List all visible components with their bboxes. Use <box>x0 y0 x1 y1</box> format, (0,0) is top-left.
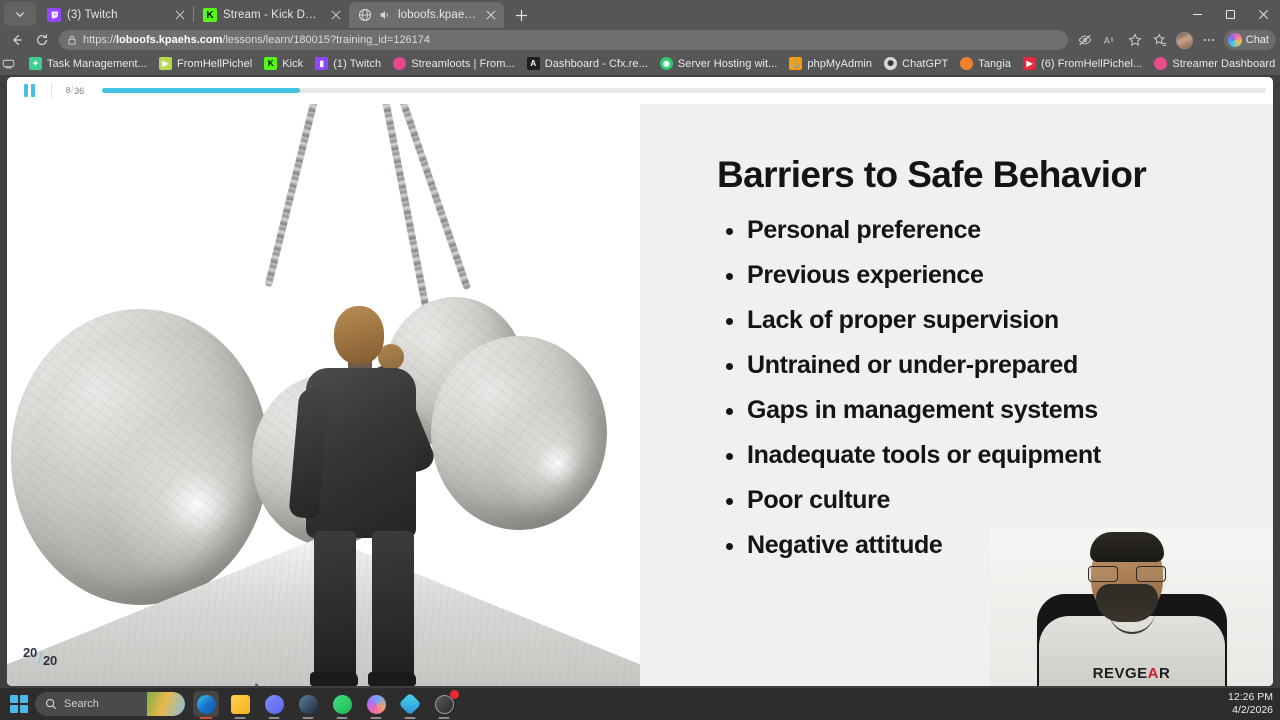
file-explorer-icon <box>231 695 250 714</box>
bookmark-favicon: ▮ <box>315 57 328 70</box>
search-placeholder: Search <box>64 698 99 710</box>
vrchat-icon <box>399 693 422 716</box>
bookmark-favicon: K <box>264 57 277 70</box>
hair <box>1090 532 1164 562</box>
running-indicator <box>371 717 382 719</box>
twitch-icon <box>47 8 61 22</box>
tracking-prevention-icon[interactable] <box>1073 29 1097 51</box>
list-item: Gaps in management systems <box>726 396 1273 425</box>
search-icon <box>45 698 57 710</box>
bookmark-favicon <box>393 57 406 70</box>
bullet-text: Inadequate tools or equipment <box>747 441 1101 470</box>
taskbar-app-vrchat[interactable] <box>397 691 423 717</box>
running-indicator <box>269 717 280 719</box>
add-favorite-icon[interactable] <box>1123 29 1147 51</box>
spotify-icon <box>333 695 352 714</box>
bookmark-streamer-dashboard[interactable]: Streamer Dashboard <box>1148 54 1280 74</box>
score-total: 20 <box>43 653 57 668</box>
taskbar-left: Search <box>0 691 457 717</box>
taskbar-app-spotify[interactable] <box>329 691 355 717</box>
progress-bar[interactable] <box>102 88 1266 93</box>
bookmark-favicon: ▶ <box>159 57 172 70</box>
bullet-dot-icon <box>726 363 733 370</box>
beard <box>1096 584 1158 622</box>
bookmark-label: (1) Twitch <box>333 58 381 70</box>
bookmark-label: Dashboard - Cfx.re... <box>545 58 648 70</box>
slide-image-wrecking-balls: 20/20 <box>7 104 640 686</box>
bookmark-favicon <box>1154 57 1167 70</box>
running-indicator <box>200 717 213 719</box>
running-indicator <box>439 717 450 719</box>
bullet-dot-icon <box>726 318 733 325</box>
lock-icon <box>67 35 77 45</box>
shirt-logo-text: REVGEAR <box>1093 665 1171 682</box>
collections-icon[interactable] <box>2 54 15 74</box>
close-icon[interactable] <box>484 8 498 22</box>
edge-icon <box>197 695 216 714</box>
score-badge: 20/20 <box>23 645 57 668</box>
bookmark-label: ChatGPT <box>902 58 948 70</box>
window-controls <box>1181 0 1280 28</box>
navigation-bar: https://loboofs.kpaehs.com/lessons/learn… <box>0 28 1280 52</box>
bookmark-chatgpt[interactable]: ✺ ChatGPT <box>878 54 954 74</box>
taskbar-right: 12:26 PM 4/2/2026 <box>1228 688 1280 720</box>
taskbar-app-steam[interactable] <box>295 691 321 717</box>
read-aloud-icon[interactable]: A <box>1098 29 1122 51</box>
slide-current: 8 <box>66 86 70 95</box>
minimize-icon[interactable] <box>1181 0 1214 28</box>
browser-window: (3) Twitch K Stream - Kick Dashboard lob… <box>0 0 1280 720</box>
bookmark-kick[interactable]: K Kick <box>258 54 309 74</box>
copilot-chat-button[interactable]: Chat <box>1224 30 1276 50</box>
wrecking-ball <box>11 309 269 605</box>
close-icon[interactable] <box>329 8 343 22</box>
windows-taskbar: Search <box>0 688 1280 720</box>
chain-icon <box>399 104 471 290</box>
steam-icon <box>299 695 318 714</box>
list-item: Untrained or under-prepared <box>726 351 1273 380</box>
shirt-text-left: REVGE <box>1093 665 1148 682</box>
weather-thumbnail[interactable] <box>147 692 185 716</box>
bullet-text: Gaps in management systems <box>747 396 1098 425</box>
reload-icon[interactable] <box>29 29 54 51</box>
close-icon[interactable] <box>173 8 187 22</box>
copilot-icon <box>1228 33 1242 47</box>
bullet-text: Previous experience <box>747 261 984 290</box>
bookmark-favicon: A <box>527 57 540 70</box>
settings-more-icon[interactable] <box>1197 29 1221 51</box>
chain-icon <box>265 104 318 287</box>
bookmark-fromhellpichel[interactable]: ▶ FromHellPichel <box>153 54 258 74</box>
bookmark-streamloots[interactable]: Streamloots | From... <box>387 54 521 74</box>
glasses-icon <box>1088 566 1166 582</box>
person-illustration <box>290 306 440 686</box>
taskbar-app-edge[interactable] <box>193 691 219 717</box>
bookmark-favicon: ⚓ <box>789 57 802 70</box>
tab-title: Stream - Kick Dashboard <box>223 9 323 21</box>
list-item: Previous experience <box>726 261 1273 290</box>
list-item: Lack of proper supervision <box>726 306 1273 335</box>
new-tab-button[interactable] <box>508 3 534 27</box>
maximize-icon[interactable] <box>1214 0 1247 28</box>
discord-icon <box>265 695 284 714</box>
back-icon[interactable] <box>4 29 29 51</box>
bookmark-favicon: ✦ <box>29 57 42 70</box>
profile-avatar[interactable] <box>1176 32 1193 49</box>
bookmark-favicon: ✺ <box>884 57 897 70</box>
bookmark-label: phpMyAdmin <box>807 58 872 70</box>
tab-kick-dashboard[interactable]: K Stream - Kick Dashboard <box>194 2 349 28</box>
bullet-text: Poor culture <box>747 486 890 515</box>
list-item: Poor culture <box>726 486 1273 515</box>
tab-twitch[interactable]: (3) Twitch <box>38 2 193 28</box>
streamlabs-icon <box>367 695 386 714</box>
bookmark-label: Streamer Dashboard <box>1172 58 1275 70</box>
score-separator: / <box>38 650 42 667</box>
favorites-icon[interactable] <box>1148 29 1172 51</box>
bullet-dot-icon <box>726 273 733 280</box>
tab-strip: (3) Twitch K Stream - Kick Dashboard lob… <box>0 0 1280 28</box>
bookmark-label: Tangia <box>978 58 1011 70</box>
tab-title: loboofs.kpaehs.com/lessons/l <box>398 9 478 21</box>
svg-text:A: A <box>1104 36 1110 46</box>
wrecking-ball <box>431 336 607 530</box>
lesson-player-bar: 8/36 <box>7 77 1273 104</box>
speaker-icon[interactable] <box>378 8 392 22</box>
bullet-dot-icon <box>726 408 733 415</box>
score-current: 20 <box>23 645 37 660</box>
bookmark-tangia[interactable]: Tangia <box>954 54 1017 74</box>
shirt-text-accent: A <box>1148 665 1159 682</box>
bookmark-task-management[interactable]: ✦ Task Management... <box>23 54 153 74</box>
bookmark-favicon: ▶ <box>1023 57 1036 70</box>
globe-icon <box>358 8 372 22</box>
address-bar[interactable]: https://loboofs.kpaehs.com/lessons/learn… <box>59 30 1068 50</box>
taskbar-app-file-explorer[interactable] <box>227 691 253 717</box>
tab-search-chevron-icon[interactable] <box>4 2 36 26</box>
close-icon[interactable] <box>1247 0 1280 28</box>
bullet-text: Personal preference <box>747 216 981 245</box>
page-title: Barriers to Safe Behavior <box>717 156 1273 195</box>
toolbar-actions: A Chat <box>1073 29 1276 51</box>
slide-total: 36 <box>74 86 84 96</box>
bullet-text: Negative attitude <box>747 531 942 560</box>
running-indicator <box>235 717 246 719</box>
taskbar-app-obs[interactable] <box>431 691 457 717</box>
tab-title: (3) Twitch <box>67 9 167 21</box>
running-indicator <box>303 717 314 719</box>
notification-badge <box>450 690 459 699</box>
bookmark-label: Server Hosting wit... <box>678 58 777 70</box>
bookmark-twitch[interactable]: ▮ (1) Twitch <box>309 54 387 74</box>
bullet-text: Lack of proper supervision <box>747 306 1059 335</box>
bullet-text: Untrained or under-prepared <box>747 351 1078 380</box>
bookmark-label: Streamloots | From... <box>411 58 515 70</box>
list-item: Inadequate tools or equipment <box>726 441 1273 470</box>
slide-counter: 8/36 <box>52 77 98 104</box>
clock-time: 12:26 PM <box>1228 691 1273 704</box>
bookmark-youtube-fromhellpichel[interactable]: ▶ (6) FromHellPichel... <box>1017 54 1148 74</box>
taskbar-clock[interactable]: 12:26 PM 4/2/2026 <box>1228 691 1273 717</box>
mouse-cursor-icon <box>255 683 267 686</box>
page-viewport: 8/36 <box>0 75 1280 688</box>
bookmark-cfx-dashboard[interactable]: A Dashboard - Cfx.re... <box>521 54 654 74</box>
taskbar-app-discord[interactable] <box>261 691 287 717</box>
course-player-card: 8/36 <box>7 77 1273 686</box>
bookmarks-bar: ✦ Task Management... ▶ FromHellPichel K … <box>0 52 1280 75</box>
tab-kpaehs-lessons[interactable]: loboofs.kpaehs.com/lessons/l <box>349 2 504 28</box>
search-input[interactable]: Search <box>35 692 185 716</box>
bullet-dot-icon <box>726 498 733 505</box>
bullet-dot-icon <box>726 543 733 550</box>
bookmark-label: (6) FromHellPichel... <box>1041 58 1142 70</box>
running-indicator <box>337 717 348 719</box>
taskbar-app-streamlabs[interactable] <box>363 691 389 717</box>
bookmark-server-hosting[interactable]: ◉ Server Hosting wit... <box>654 54 783 74</box>
streamer-webcam-overlay: REVGEAR <box>990 528 1273 686</box>
progress-bar-fill <box>102 88 300 93</box>
bullet-dot-icon <box>726 228 733 235</box>
clock-date: 4/2/2026 <box>1228 704 1273 717</box>
windows-start-icon[interactable] <box>8 693 30 715</box>
shirt-text-right: R <box>1159 665 1170 682</box>
bookmark-phpmyadmin[interactable]: ⚓ phpMyAdmin <box>783 54 878 74</box>
url-text: https://loboofs.kpaehs.com/lessons/learn… <box>83 34 430 46</box>
bookmark-label: Kick <box>282 58 303 70</box>
list-item: Personal preference <box>726 216 1273 245</box>
bookmark-label: FromHellPichel <box>177 58 252 70</box>
bookmark-favicon <box>960 57 973 70</box>
running-indicator <box>405 717 416 719</box>
kick-icon: K <box>203 8 217 22</box>
pause-icon[interactable] <box>7 77 51 104</box>
bullet-dot-icon <box>726 453 733 460</box>
chat-label: Chat <box>1246 34 1269 46</box>
bookmark-favicon: ◉ <box>660 57 673 70</box>
bookmark-label: Task Management... <box>47 58 147 70</box>
